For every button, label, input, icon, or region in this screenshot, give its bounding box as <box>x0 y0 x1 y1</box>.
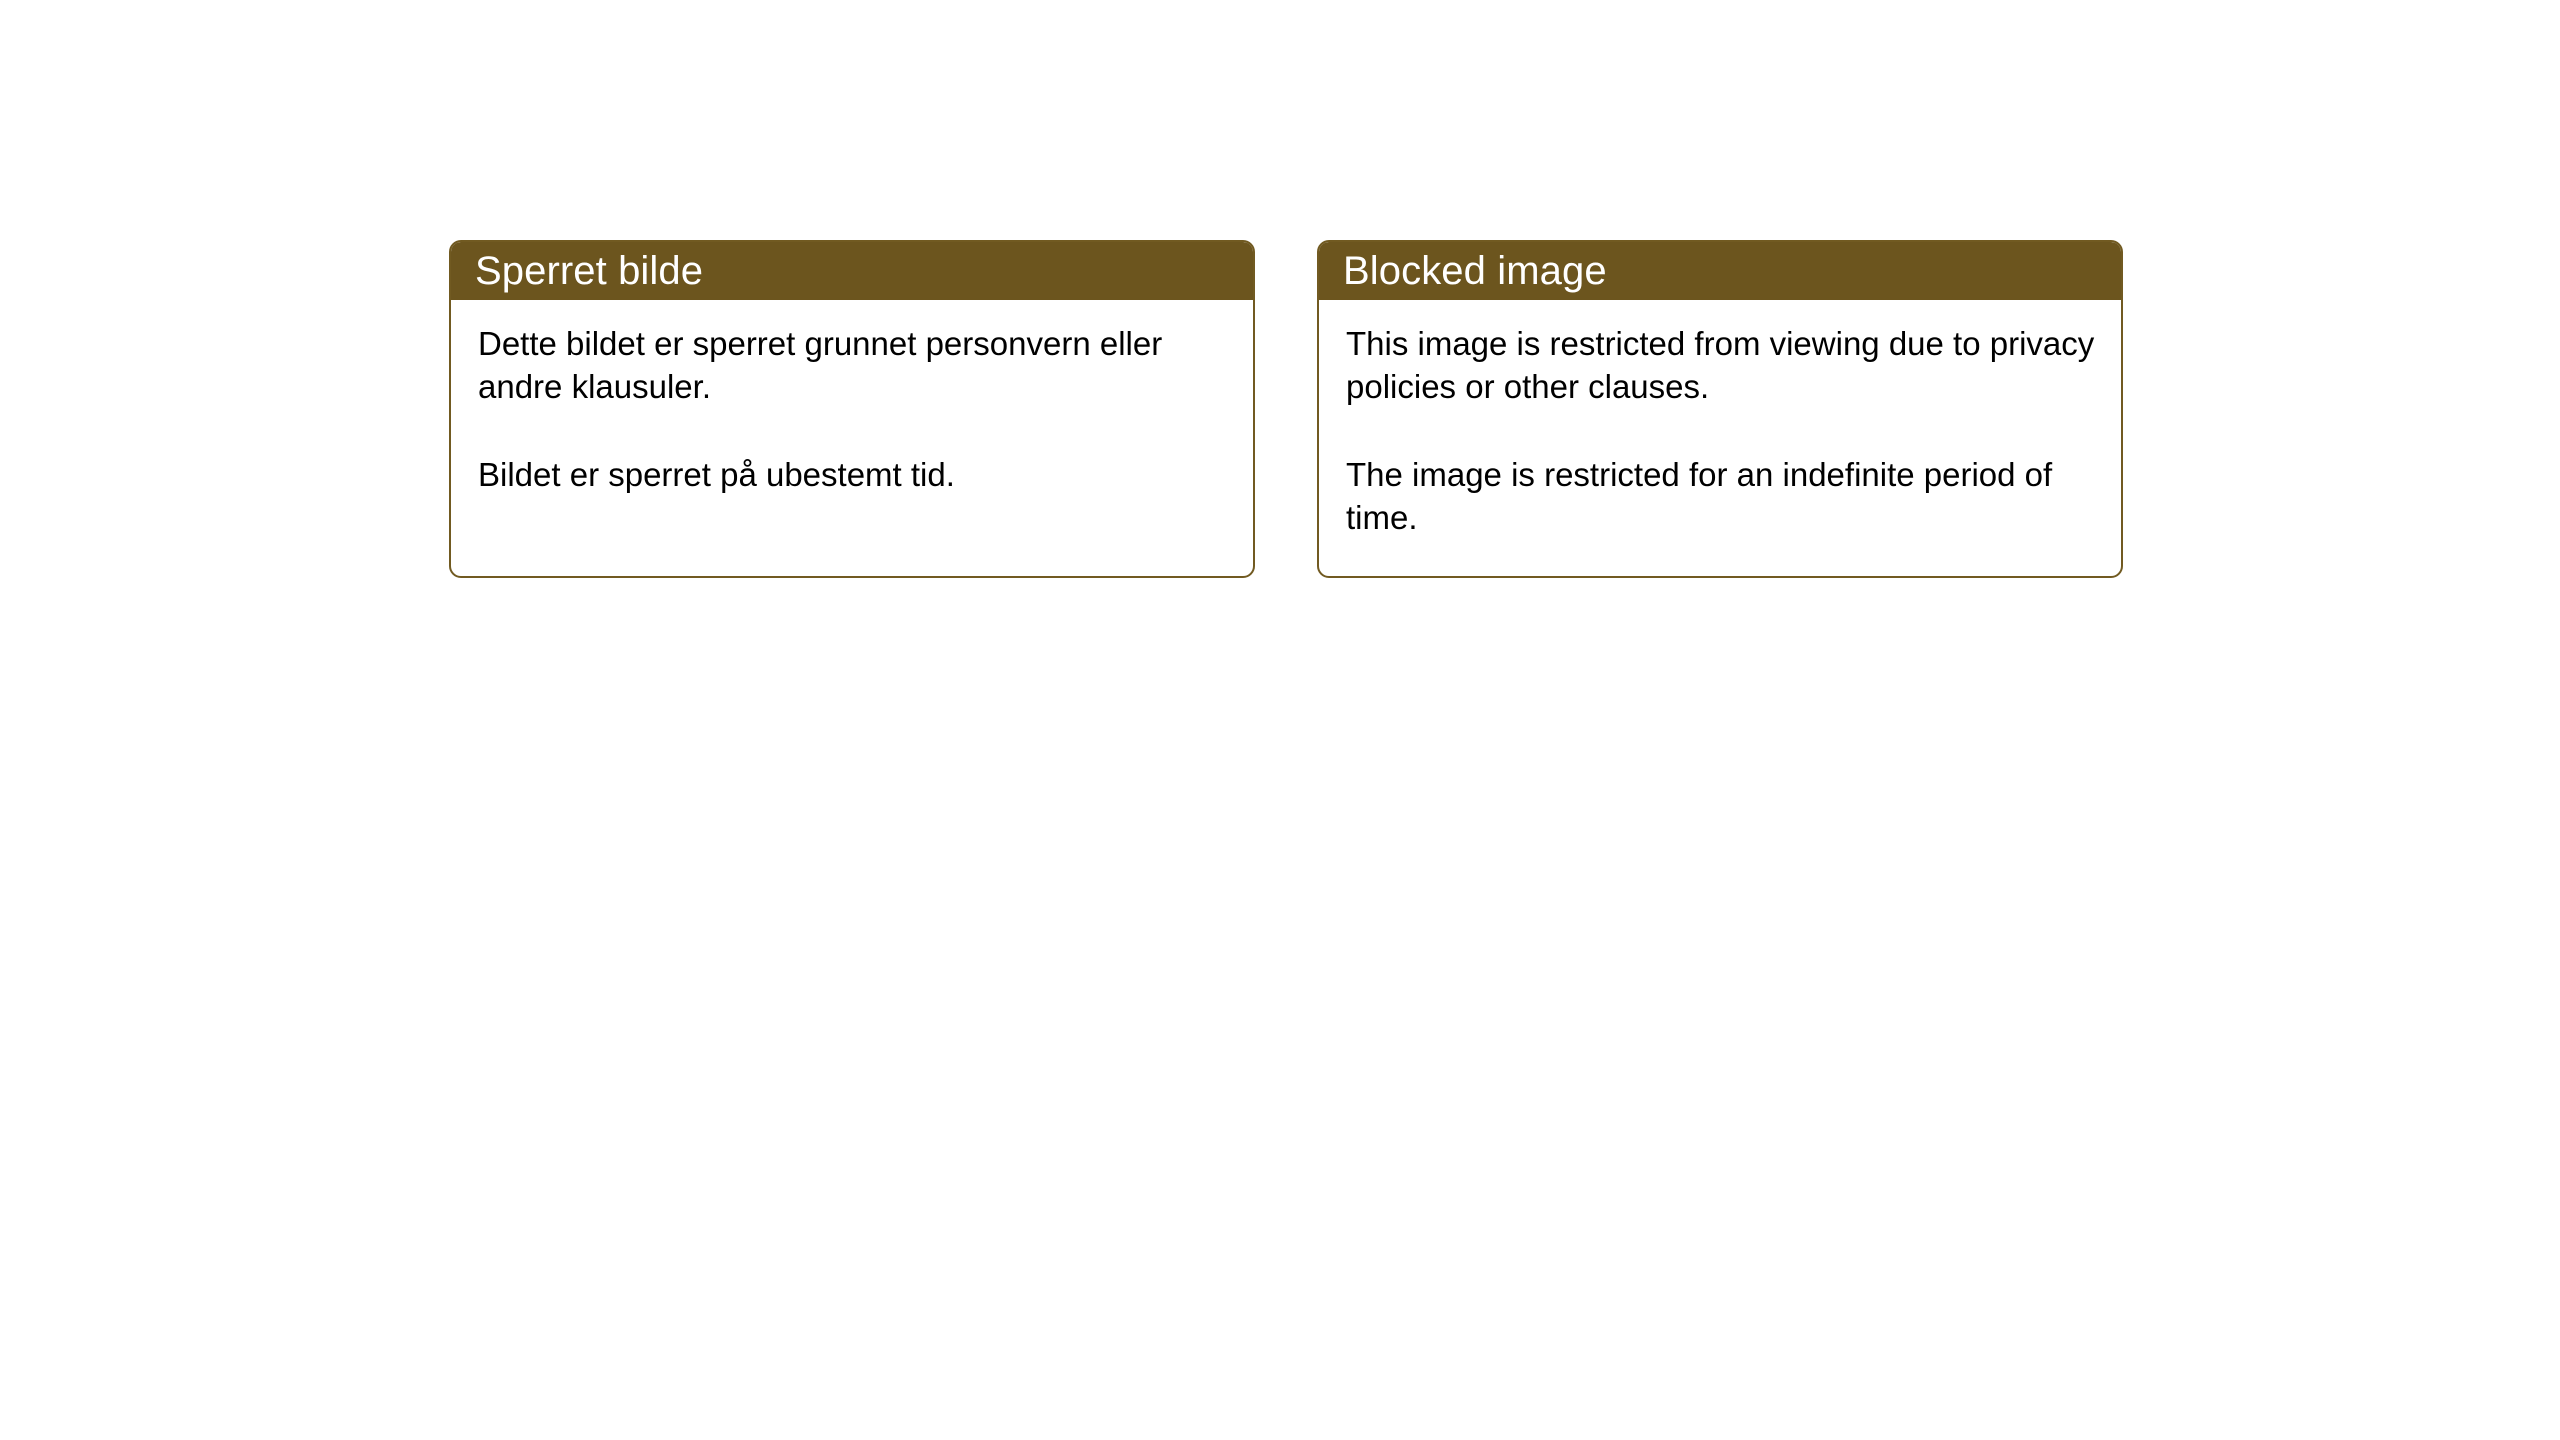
blocked-image-notice-card-english: Blocked image This image is restricted f… <box>1317 240 2123 578</box>
card-header-english: Blocked image <box>1319 242 2121 300</box>
blocked-image-notices: Sperret bilde Dette bildet er sperret gr… <box>449 240 2123 578</box>
card-paragraph-duration-english: The image is restricted for an indefinit… <box>1346 453 2095 539</box>
card-title-english: Blocked image <box>1343 251 1607 291</box>
card-header-norwegian: Sperret bilde <box>451 242 1253 300</box>
card-paragraph-reason-english: This image is restricted from viewing du… <box>1346 322 2095 408</box>
card-paragraph-duration-norwegian: Bildet er sperret på ubestemt tid. <box>478 453 1227 496</box>
card-body-norwegian: Dette bildet er sperret grunnet personve… <box>451 300 1253 576</box>
card-paragraph-reason-norwegian: Dette bildet er sperret grunnet personve… <box>478 322 1227 408</box>
card-title-norwegian: Sperret bilde <box>475 251 703 291</box>
blocked-image-notice-card-norwegian: Sperret bilde Dette bildet er sperret gr… <box>449 240 1255 578</box>
card-body-english: This image is restricted from viewing du… <box>1319 300 2121 576</box>
